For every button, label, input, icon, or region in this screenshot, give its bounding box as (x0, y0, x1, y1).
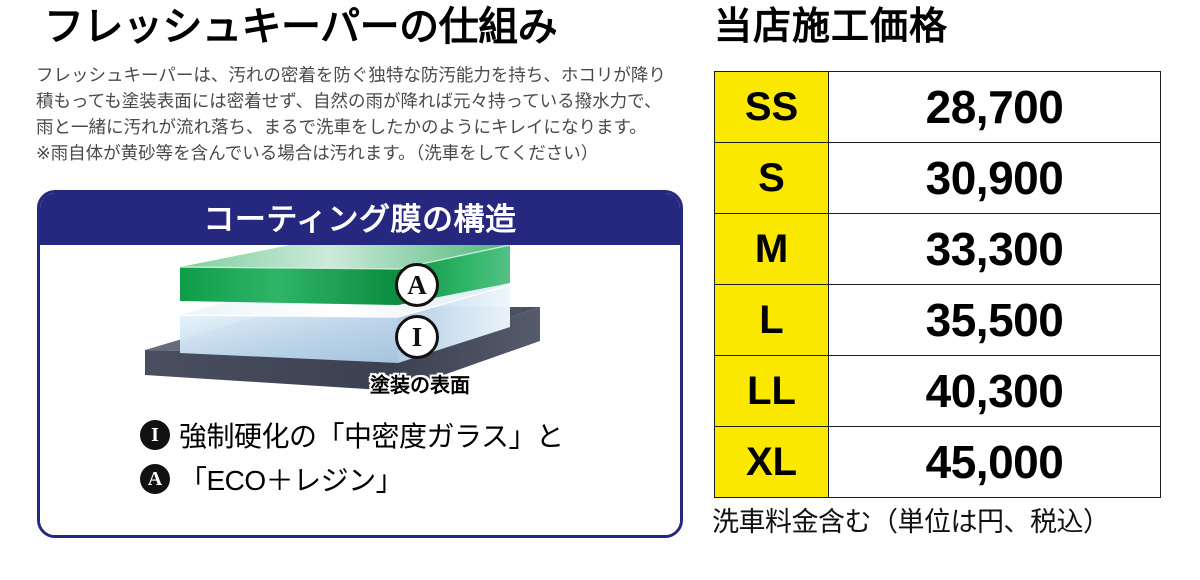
table-row: SS 28,700 (715, 72, 1161, 143)
right-column: 当店施工価格 SS 28,700 S 30,900 M 33,300 L 35,… (700, 0, 1200, 580)
coating-structure-panel: コーティング膜の構造 (37, 190, 683, 538)
intro-paragraph: フレッシュキーパーは、汚れの密着を防ぐ独特な防汚能力を持ち、ホコリが降り 積もっ… (36, 62, 684, 166)
price-note: 洗車料金含む（単位は円、税込） (712, 500, 1110, 539)
page-title: フレッシュキーパーの仕組み (44, 4, 557, 50)
price-cell: 40,300 (829, 356, 1161, 427)
panel-body: A I 塗装の表面 I 強制硬化の「中密度ガラス」と A 「ECO＋レジン」 (40, 245, 680, 538)
price-cell: 33,300 (829, 214, 1161, 285)
table-row: XL 45,000 (715, 427, 1161, 498)
table-row: L 35,500 (715, 285, 1161, 356)
size-cell: M (715, 214, 829, 285)
legend-item-a: A 「ECO＋レジン」 (40, 457, 683, 501)
size-cell: S (715, 143, 829, 214)
table-row: S 30,900 (715, 143, 1161, 214)
intro-line-2: 積もっても塗装表面には密着せず、自然の雨が降れば元々持っている撥水力で、 (36, 88, 684, 114)
price-cell: 45,000 (829, 427, 1161, 498)
left-column: フレッシュキーパーの仕組み フレッシュキーパーは、汚れの密着を防ぐ独特な防汚能力… (0, 0, 700, 580)
price-cell: 35,500 (829, 285, 1161, 356)
legend-badge-i: I (140, 420, 170, 450)
intro-line-4: ※雨自体が黄砂等を含んでいる場合は汚れます。（洗車をしてください） (36, 140, 684, 166)
layer-diagram: A I 塗装の表面 (40, 245, 683, 410)
size-cell: L (715, 285, 829, 356)
table-row: M 33,300 (715, 214, 1161, 285)
price-section-title: 当店施工価格 (714, 6, 948, 50)
intro-line-1: フレッシュキーパーは、汚れの密着を防ぐ独特な防汚能力を持ち、ホコリが降り (36, 62, 684, 88)
panel-header-label: コーティング膜の構造 (203, 204, 516, 235)
diagram-badge-a: A (395, 263, 439, 307)
substrate-label: 塗装の表面 (370, 369, 470, 398)
legend-label-i: 強制硬化の「中密度ガラス」と (179, 415, 563, 455)
size-cell: XL (715, 427, 829, 498)
promo-page: フレッシュキーパーの仕組み フレッシュキーパーは、汚れの密着を防ぐ独特な防汚能力… (0, 0, 1200, 580)
intro-line-3: 雨と一緒に汚れが流れ落ち、まるで洗車をしたかのようにキレイになります。 (36, 114, 684, 140)
legend-item-i: I 強制硬化の「中密度ガラス」と (40, 413, 683, 457)
table-row: LL 40,300 (715, 356, 1161, 427)
diagram-badge-i: I (395, 315, 439, 359)
size-cell: SS (715, 72, 829, 143)
price-table: SS 28,700 S 30,900 M 33,300 L 35,500 LL (714, 71, 1161, 498)
legend-list: I 強制硬化の「中密度ガラス」と A 「ECO＋レジン」 (40, 413, 683, 501)
layer-diagram-svg (40, 245, 683, 410)
panel-header: コーティング膜の構造 (40, 193, 680, 245)
price-cell: 30,900 (829, 143, 1161, 214)
legend-label-a: 「ECO＋レジン」 (179, 459, 403, 499)
legend-badge-a: A (140, 464, 170, 494)
size-cell: LL (715, 356, 829, 427)
price-cell: 28,700 (829, 72, 1161, 143)
